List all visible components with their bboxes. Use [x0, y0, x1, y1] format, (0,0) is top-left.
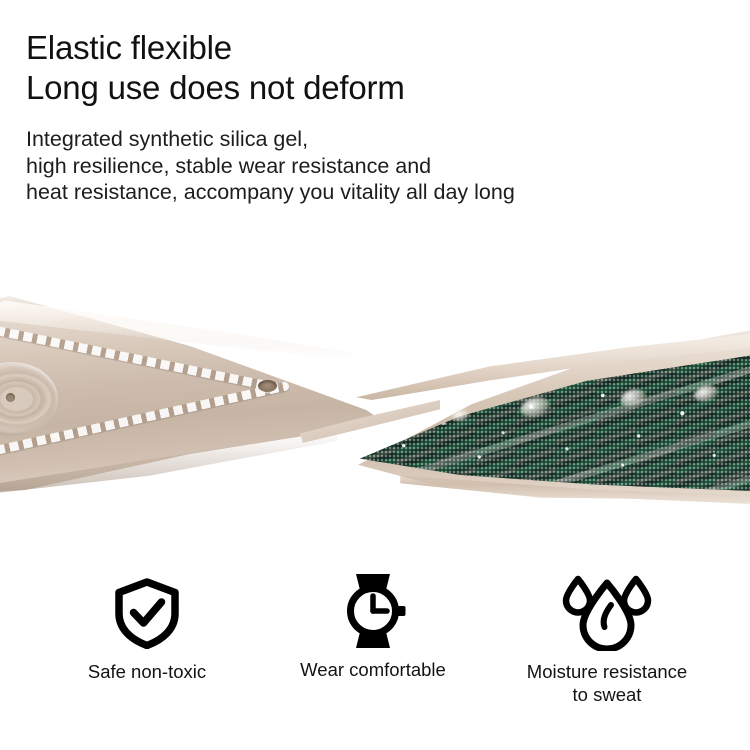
description-line-1: Integrated synthetic silica gel,: [26, 126, 726, 153]
feature-icon-wrap: [292, 574, 454, 648]
headline-block: Elastic flexible Long use does not defor…: [26, 28, 726, 108]
headline-line-1: Elastic flexible: [26, 28, 726, 68]
feature-caption: Safe non-toxic: [66, 660, 228, 683]
product-marketing-page: Elastic flexible Long use does not defor…: [0, 0, 750, 750]
headline-line-2: Long use does not deform: [26, 68, 726, 108]
shield-check-icon: [111, 577, 183, 649]
strap-buckle-hole: [258, 380, 277, 392]
feature-item-wear-comfortable: Wear comfortable: [292, 574, 454, 681]
water-droplets-icon: [561, 575, 653, 651]
feature-caption: Wear comfortable: [292, 658, 454, 681]
feature-caption-line-1: Moisture resistance: [527, 661, 687, 682]
feature-row: Safe non-toxic: [0, 570, 750, 710]
description-line-3: heat resistance, accompany you vitality …: [26, 179, 726, 206]
description-line-2: high resilience, stable wear resistance …: [26, 153, 726, 180]
description-paragraph: Integrated synthetic silica gel, high re…: [26, 126, 726, 206]
feature-caption-line-1: Safe non-toxic: [88, 661, 206, 682]
feature-item-safe-non-toxic: Safe non-toxic: [66, 576, 228, 683]
feature-caption-line-1: Wear comfortable: [300, 659, 446, 680]
product-photo-twisted-watch-strap: [0, 250, 750, 540]
feature-icon-wrap: [512, 576, 702, 650]
feature-icon-wrap: [66, 576, 228, 650]
strap-embossed-center-dot: [6, 393, 15, 402]
wristwatch-icon: [336, 572, 410, 650]
feature-caption: Moisture resistance to sweat: [512, 660, 702, 706]
feature-item-moisture-resistance: Moisture resistance to sweat: [512, 576, 702, 706]
feature-caption-line-2: to sweat: [512, 683, 702, 706]
